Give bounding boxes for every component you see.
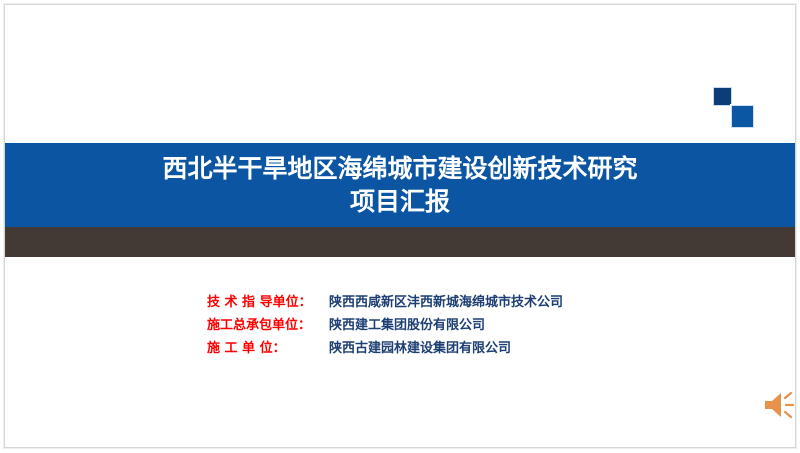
title-banner: 西北半干旱地区海绵城市建设创新技术研究 项目汇报 bbox=[5, 143, 795, 227]
credit-label-construction-unit: 施 工 单 位： bbox=[207, 338, 325, 359]
presentation-slide: 西北半干旱地区海绵城市建设创新技术研究 项目汇报 技 术 指 导单位： 陕西西咸… bbox=[0, 0, 800, 453]
speaker-audio-icon[interactable] bbox=[762, 389, 795, 421]
slide-title-line-2: 项目汇报 bbox=[350, 185, 450, 218]
speaker-wave-bottom bbox=[785, 412, 791, 417]
credit-value-construction-unit: 陕西古建园林建设集团有限公司 bbox=[329, 338, 511, 359]
decorative-square-dark bbox=[713, 87, 732, 106]
slide-title-line-1: 西北半干旱地区海绵城市建设创新技术研究 bbox=[162, 152, 637, 185]
credit-label-general-contractor: 施工总承包单位： bbox=[207, 315, 325, 336]
speaker-wave-top bbox=[785, 393, 791, 398]
credits-block: 技 术 指 导单位： 陕西西咸新区沣西新城海绵城市技术公司 施工总承包单位： 陕… bbox=[207, 292, 563, 359]
credit-value-technical-guidance: 陕西西咸新区沣西新城海绵城市技术公司 bbox=[329, 292, 563, 313]
credit-label-technical-guidance: 技 术 指 导单位： bbox=[207, 292, 325, 313]
credit-value-general-contractor: 陕西建工集团股份有限公司 bbox=[329, 315, 485, 336]
credit-row: 施工总承包单位： 陕西建工集团股份有限公司 bbox=[207, 315, 563, 336]
speaker-body-shape bbox=[765, 393, 781, 417]
decorative-square-bright bbox=[731, 105, 754, 128]
credit-row: 技 术 指 导单位： 陕西西咸新区沣西新城海绵城市技术公司 bbox=[207, 292, 563, 313]
slide-canvas: 西北半干旱地区海绵城市建设创新技术研究 项目汇报 技 术 指 导单位： 陕西西咸… bbox=[5, 5, 795, 447]
accent-band bbox=[5, 227, 795, 257]
credit-row: 施 工 单 位： 陕西古建园林建设集团有限公司 bbox=[207, 338, 563, 359]
